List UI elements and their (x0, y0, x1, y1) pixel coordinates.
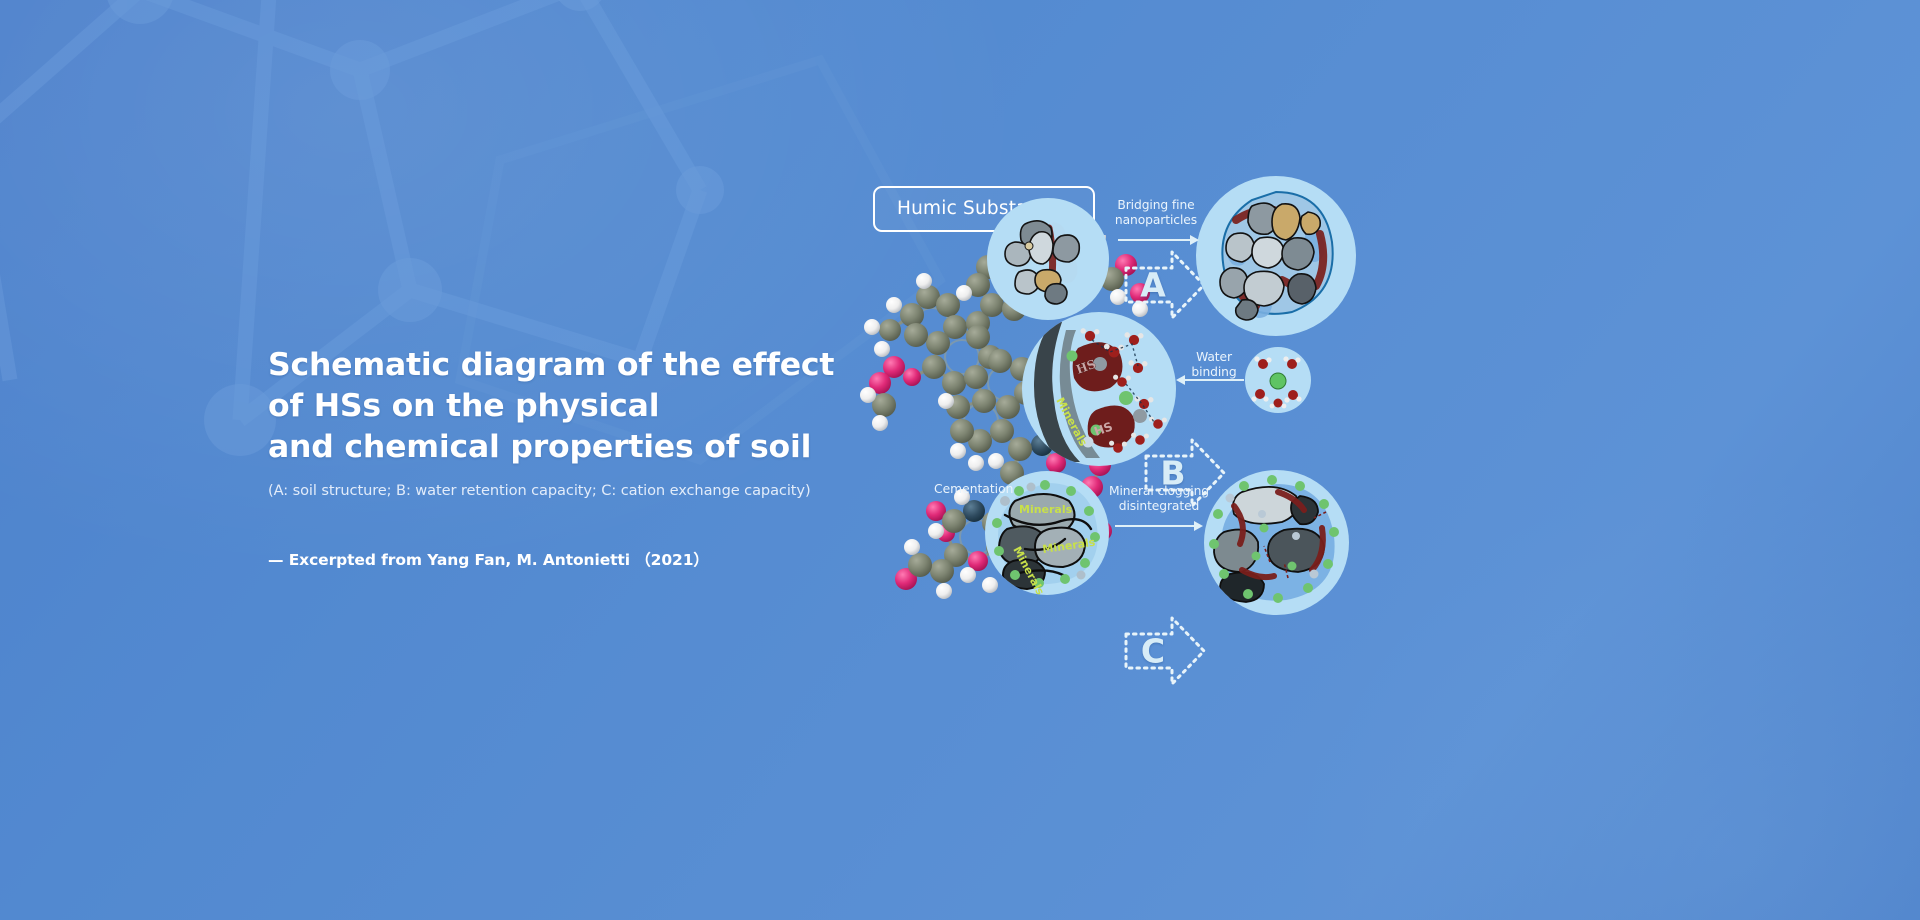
soil-aggregate-icon-a1 (987, 198, 1109, 320)
mineral-clogging-icon-c2 (1204, 470, 1349, 615)
water-cluster-icon-b2 (1245, 347, 1311, 413)
stage-letter-c: C (1130, 635, 1176, 668)
stage-letter-a: A (1130, 269, 1176, 302)
connector-label-c: Mineral clogging disintegrated (1107, 484, 1211, 514)
arrow-icon-a (1190, 235, 1199, 245)
background-glow (1280, 460, 1920, 920)
water-retention-icon-b1: HS HS Minerals (1022, 312, 1176, 466)
cementation-label: Cementation (934, 482, 1013, 497)
text-block: Schematic diagram of the effect of HSs o… (268, 345, 908, 570)
connector-label-b: Water binding (1177, 350, 1251, 380)
connector-label-a: Bridging fine nanoparticles (1100, 198, 1212, 228)
stage-arrow-c: C (1122, 612, 1208, 690)
soil-aggregate-icon-a2 (1196, 176, 1356, 336)
minerals-label: Minerals (1019, 503, 1073, 516)
page-title: Schematic diagram of the effect of HSs o… (268, 345, 908, 468)
connector-c (1115, 525, 1198, 527)
arrow-icon-c (1194, 521, 1203, 531)
page-subtitle: (A: soil structure; B: water retention c… (268, 481, 908, 501)
attribution-line: — Excerpted from Yang Fan, M. Antonietti… (268, 548, 908, 570)
connector-a (1118, 239, 1194, 241)
poster-canvas: Schematic diagram of the effect of HSs o… (0, 0, 1920, 920)
